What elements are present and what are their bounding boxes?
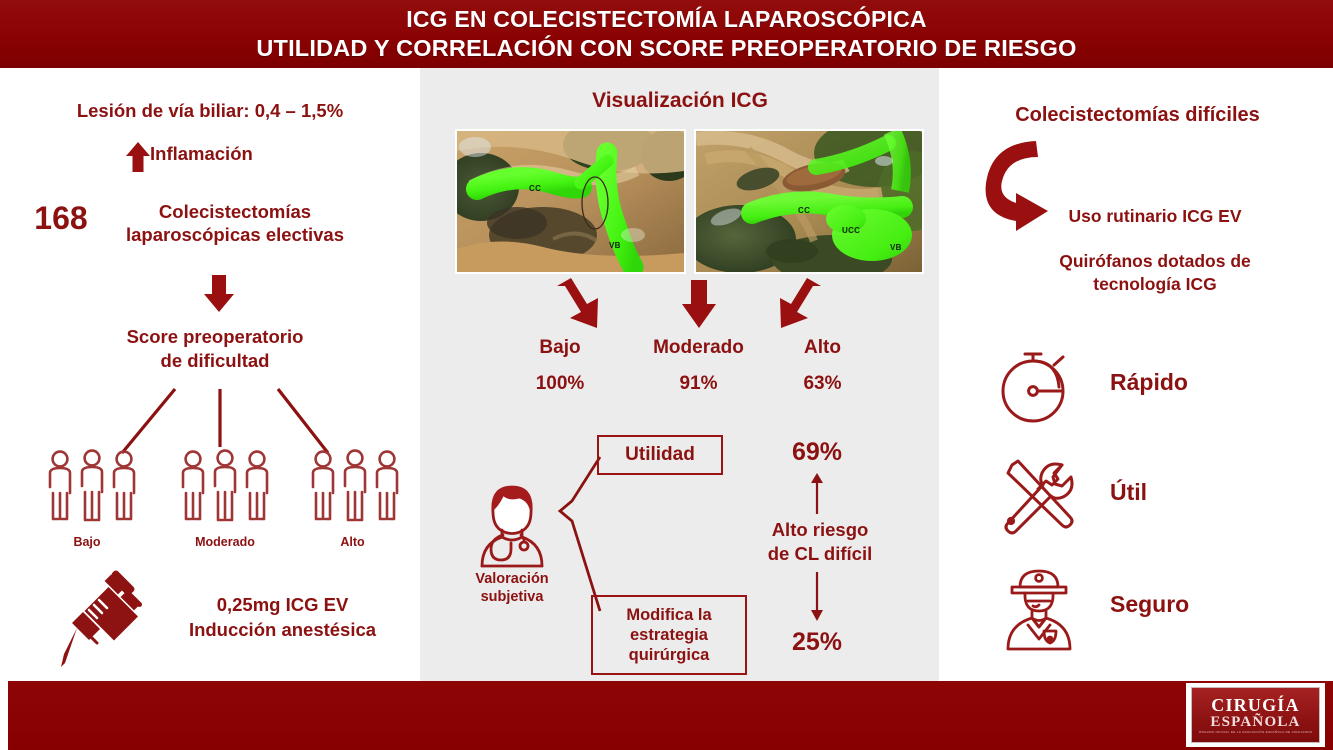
risk-value-moderado: 91% [636, 372, 761, 396]
preoperative-score-label: Score preoperatorio de dificultad [70, 325, 360, 373]
utility-box: Utilidad [597, 435, 723, 475]
case-count-label-line1: Colecistectomías [159, 201, 311, 222]
difficult-cholecystectomies-title: Colecistectomías difíciles [960, 103, 1315, 128]
risk-value-bajo: 100% [505, 372, 615, 396]
journal-logo-subtitle: ÓRGANO OFICIAL DE LA ASOCIACIÓN ESPAÑOLA… [1199, 730, 1313, 735]
photo-left-label-cc: CC [529, 184, 541, 193]
risk-label-alto: Alto [770, 336, 875, 360]
group-label-alto: Alto [300, 535, 405, 550]
assessment-line1: Valoración [475, 571, 548, 587]
case-count-number: 168 [18, 200, 104, 236]
people-group-bajo-icon [42, 447, 142, 532]
journal-logo-line1: CIRUGÍA [1211, 696, 1299, 714]
icg-visualization-title: Visualización ICG [480, 88, 880, 114]
modifies-line1: Modifica la [626, 606, 711, 624]
group-label-moderado: Moderado [165, 535, 285, 550]
infographic-poster: ICG EN COLECISTECTOMÍA LAPAROSCÓPICA UTI… [0, 0, 1333, 750]
risk-value-alto: 63% [770, 372, 875, 396]
or-equipped-line1: Quirófanos dotados de [1059, 251, 1251, 271]
high-risk-line1: Alto riesgo [772, 519, 869, 540]
poster-footer [8, 681, 1333, 750]
people-group-moderado-icon [175, 447, 275, 532]
high-risk-label: Alto riesgo de CL difícil [740, 518, 900, 566]
utility-bracket-connector [550, 455, 605, 615]
journal-logo-inner: CIRUGÍA ESPAÑOLA ÓRGANO OFICIAL DE LA AS… [1191, 687, 1320, 743]
thin-down-arrow-icon [808, 572, 826, 622]
or-equipped-text: Quirófanos dotados de tecnología ICG [995, 250, 1315, 296]
risk-arrow-alto-icon [776, 278, 826, 330]
group-label-bajo: Bajo [32, 535, 142, 550]
risk-arrow-moderado-icon [679, 278, 719, 330]
case-count-label: Colecistectomías laparoscópicas electiva… [100, 200, 370, 246]
journal-logo-line2: ESPAÑOLA [1210, 714, 1300, 730]
high-risk-utility-percent: 69% [762, 437, 872, 467]
tools-icon [998, 455, 1080, 537]
modifies-line3: quirúrgica [629, 646, 710, 664]
modifies-line2: estrategia [630, 626, 708, 644]
flow-down-arrow-icon [200, 272, 238, 314]
benefit-label-seguro: Seguro [1110, 590, 1290, 618]
header-title-line2: UTILIDAD Y CORRELACIÓN CON SCORE PREOPER… [256, 34, 1076, 63]
icg-dose-line2: Inducción anestésica [189, 619, 376, 640]
security-officer-icon [998, 565, 1080, 651]
high-risk-modification-percent: 25% [762, 627, 872, 657]
risk-label-bajo: Bajo [505, 336, 615, 360]
routine-use-text: Uso rutinario ICG EV [1000, 205, 1310, 227]
syringe-icon [55, 575, 150, 670]
bile-duct-injury-text: Lesión de vía biliar: 0,4 – 1,5% [20, 100, 400, 122]
icg-dose-text: 0,25mg ICG EV Inducción anestésica [150, 592, 415, 642]
icg-photo-left: CC VB [455, 129, 686, 274]
score-line2: de dificultad [161, 350, 270, 371]
photo-left-label-vb: VB [609, 241, 621, 250]
icg-photo-left-graphic [457, 131, 684, 272]
icg-photo-right: CC UCC VB [694, 129, 924, 274]
benefit-label-rapido: Rápido [1110, 368, 1280, 396]
header-title-line1: ICG EN COLECISTECTOMÍA LAPAROSCÓPICA [406, 5, 926, 34]
doctor-icon [466, 482, 558, 568]
journal-logo: CIRUGÍA ESPAÑOLA ÓRGANO OFICIAL DE LA AS… [1186, 683, 1325, 747]
benefit-label-util: Útil [1110, 478, 1280, 506]
score-line1: Score preoperatorio [127, 326, 304, 347]
photo-right-label-ucc: UCC [842, 226, 860, 235]
assessment-line2: subjetiva [481, 589, 544, 605]
photo-right-label-cc: CC [798, 206, 810, 215]
modifies-strategy-box: Modifica la estrategia quirúrgica [591, 595, 747, 675]
stopwatch-icon [995, 345, 1077, 427]
high-risk-line2: de CL difícil [768, 543, 873, 564]
poster-header: ICG EN COLECISTECTOMÍA LAPAROSCÓPICA UTI… [0, 0, 1333, 68]
thin-up-arrow-icon [808, 472, 826, 514]
risk-arrow-bajo-icon [552, 278, 602, 330]
risk-label-moderado: Moderado [636, 336, 761, 360]
inflammation-label: Inflamación [150, 143, 330, 165]
utility-box-label: Utilidad [625, 444, 695, 466]
or-equipped-line2: tecnología ICG [1093, 274, 1216, 294]
people-group-alto-icon [305, 447, 405, 532]
icg-dose-line1: 0,25mg ICG EV [217, 594, 349, 615]
photo-right-label-vb: VB [890, 243, 902, 252]
case-count-label-line2: laparoscópicas electivas [126, 224, 344, 245]
icg-photo-right-graphic [696, 131, 922, 272]
